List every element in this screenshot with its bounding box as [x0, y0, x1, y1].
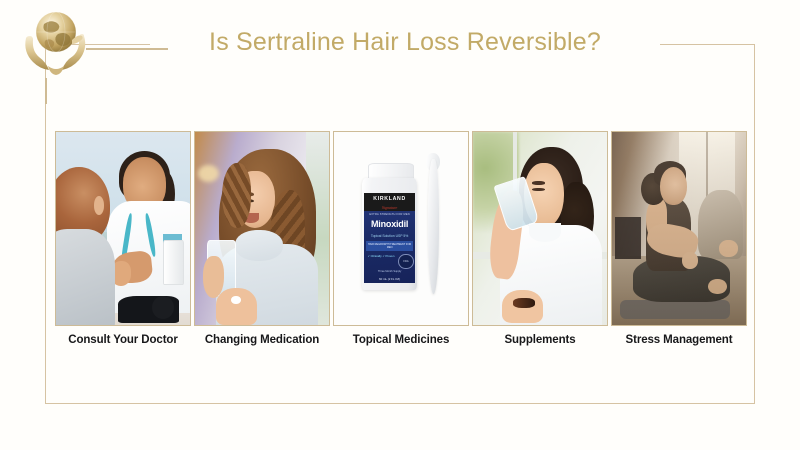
caption-topical-medicines: Topical Medicines	[333, 334, 469, 354]
product-subtitle: Topical Solution USP 5%	[365, 234, 413, 238]
photo-gallery: KIRKLAND Signature EXTRA STRENGTH FOR ME…	[55, 131, 745, 326]
caption-consult-your-doctor: Consult Your Doctor	[55, 334, 191, 354]
brand-logo	[10, 4, 102, 84]
meditation-photo	[612, 132, 746, 325]
photo-card-changing-medication[interactable]	[194, 131, 330, 326]
product-band: HAIR REGROWTH TREATMENT FOR MEN	[366, 241, 413, 251]
caption-stress-management: Stress Management	[611, 334, 747, 354]
caption-row: Consult Your Doctor Changing Medication …	[55, 334, 745, 354]
product-volume: 60 mL (2 FL OZ)	[366, 277, 413, 281]
product-top-line: EXTRA STRENGTH FOR MEN	[366, 213, 413, 216]
photo-card-topical-medicines[interactable]: KIRKLAND Signature EXTRA STRENGTH FOR ME…	[333, 131, 469, 326]
fda-seal-icon: FDA	[398, 254, 413, 270]
photo-card-supplements[interactable]	[472, 131, 608, 326]
logo-rule-vertical	[45, 78, 47, 104]
caption-changing-medication: Changing Medication	[194, 334, 330, 354]
photo-card-stress-management[interactable]	[611, 131, 747, 326]
woman-with-pill-and-water-photo	[195, 132, 329, 325]
minoxidil-bottle-photo: KIRKLAND Signature EXTRA STRENGTH FOR ME…	[334, 132, 468, 325]
globe-in-hands-icon	[10, 4, 102, 84]
doctor-consultation-photo	[56, 132, 190, 325]
product-supply: Three Month Supply	[366, 270, 413, 273]
product-signature: Signature	[364, 204, 415, 211]
product-bullets: ✓ Clinically ✓ Proven	[368, 254, 397, 258]
woman-drinking-water-photo	[473, 132, 607, 325]
photo-card-consult-your-doctor[interactable]	[55, 131, 191, 326]
page-title: Is Sertraline Hair Loss Reversible?	[150, 28, 660, 57]
caption-supplements: Supplements	[472, 334, 608, 354]
product-name: Minoxidil	[365, 219, 413, 229]
